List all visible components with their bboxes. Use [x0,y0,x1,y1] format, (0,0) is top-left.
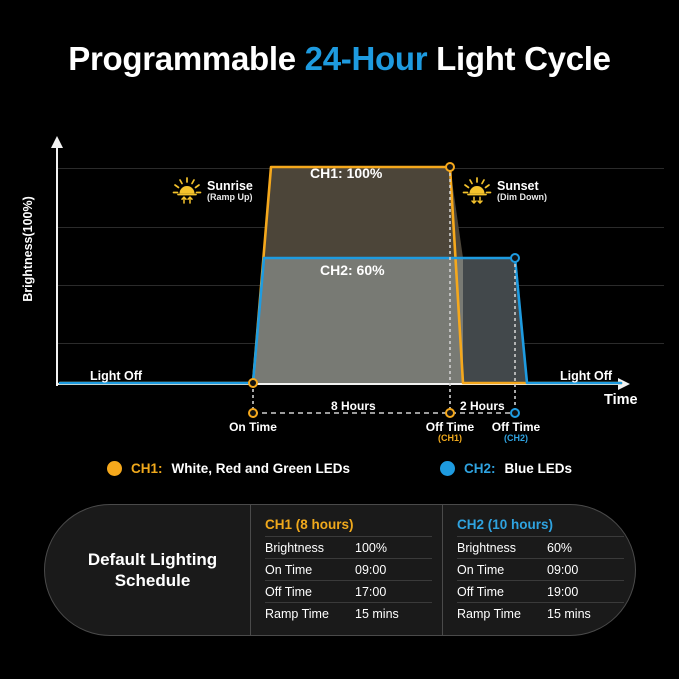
sunset-text: Sunset (Dim Down) [497,180,547,203]
sunrise-subtitle: (Ramp Up) [207,193,253,202]
sunset-annotation: Sunset (Dim Down) [462,177,547,205]
legend-dot-ch2-icon [440,461,455,476]
legend-ch2-name: CH2: [464,461,496,476]
schedule-ch1-header: CH1 (8 hours) [265,516,432,536]
row-key: Ramp Time [457,607,547,621]
schedule-ch2-header: CH2 (10 hours) [457,516,624,536]
title-part2: Light Cycle [427,40,610,77]
legend-ch1-desc: White, Red and Green LEDs [171,461,350,476]
row-value: 09:00 [547,563,624,577]
tick-on-time-text: On Time [229,420,277,434]
row-key: Brightness [457,541,547,555]
schedule-row: Brightness 100% [265,536,432,558]
row-key: Brightness [265,541,355,555]
schedule-column-ch1: CH1 (8 hours) Brightness 100% On Time 09… [250,505,432,635]
ch2-zone-label: CH2: 60% [320,262,385,278]
chart-legend: CH1: White, Red and Green LEDs CH2: Blue… [0,461,679,476]
page-title: Programmable 24-Hour Light Cycle [0,40,679,78]
tick-off-ch2-sub: (CH2) [466,434,566,444]
schedule-row: On Time 09:00 [457,558,624,580]
row-value: 15 mins [547,607,624,621]
default-schedule-card: Default LightingSchedule CH1 (8 hours) B… [44,504,636,636]
sunrise-annotation: Sunrise (Ramp Up) [172,177,253,205]
light-cycle-chart: Brightness(100%) Time [0,120,679,450]
schedule-row: Off Time 17:00 [265,580,432,602]
row-key: On Time [457,563,547,577]
sunset-title: Sunset [497,180,547,193]
offtime-ch1-tick-marker [446,409,454,417]
row-value: 15 mins [355,607,432,621]
ch1-ontime-node [249,379,257,387]
title-accent: 24-Hour [305,40,428,77]
schedule-row: Ramp Time 15 mins [457,602,624,624]
tick-label-on-time: On Time [203,421,303,434]
legend-item-ch2: CH2: Blue LEDs [440,461,572,476]
schedule-card-title: Default LightingSchedule [45,549,250,592]
ontime-tick-marker [249,409,257,417]
infographic-root: Programmable 24-Hour Light Cycle Brightn… [0,0,679,679]
row-key: Ramp Time [265,607,355,621]
ch1-zone-label: CH1: 100% [310,165,382,181]
row-value: 17:00 [355,585,432,599]
schedule-column-ch2: CH2 (10 hours) Brightness 60% On Time 09… [442,505,624,635]
schedule-row: Off Time 19:00 [457,580,624,602]
sunset-icon [462,177,492,205]
row-value: 100% [355,541,432,555]
sunrise-title: Sunrise [207,180,253,193]
ch2-offtime-node [511,254,519,262]
light-off-label-right: Light Off [560,369,612,383]
row-value: 19:00 [547,585,624,599]
legend-item-ch1: CH1: White, Red and Green LEDs [107,461,350,476]
offtime-ch2-tick-marker [511,409,519,417]
title-part1: Programmable [68,40,304,77]
row-key: Off Time [265,585,355,599]
schedule-row: Brightness 60% [457,536,624,558]
row-key: On Time [265,563,355,577]
tick-off-ch2-text: Off Time [492,420,540,434]
schedule-row: On Time 09:00 [265,558,432,580]
row-value: 09:00 [355,563,432,577]
sunrise-text: Sunrise (Ramp Up) [207,180,253,203]
sunset-subtitle: (Dim Down) [497,193,547,202]
row-key: Off Time [457,585,547,599]
legend-ch1-name: CH1: [131,461,163,476]
tick-label-off-time-ch2: Off Time (CH2) [466,421,566,444]
legend-ch2-desc: Blue LEDs [505,461,573,476]
legend-dot-ch1-icon [107,461,122,476]
sunrise-icon [172,177,202,205]
duration-label-extra: 2 Hours [460,399,505,413]
schedule-row: Ramp Time 15 mins [265,602,432,624]
duration-label-ch1: 8 Hours [331,399,376,413]
row-value: 60% [547,541,624,555]
light-off-label-left: Light Off [90,369,142,383]
ch1-offtime-node [446,163,454,171]
